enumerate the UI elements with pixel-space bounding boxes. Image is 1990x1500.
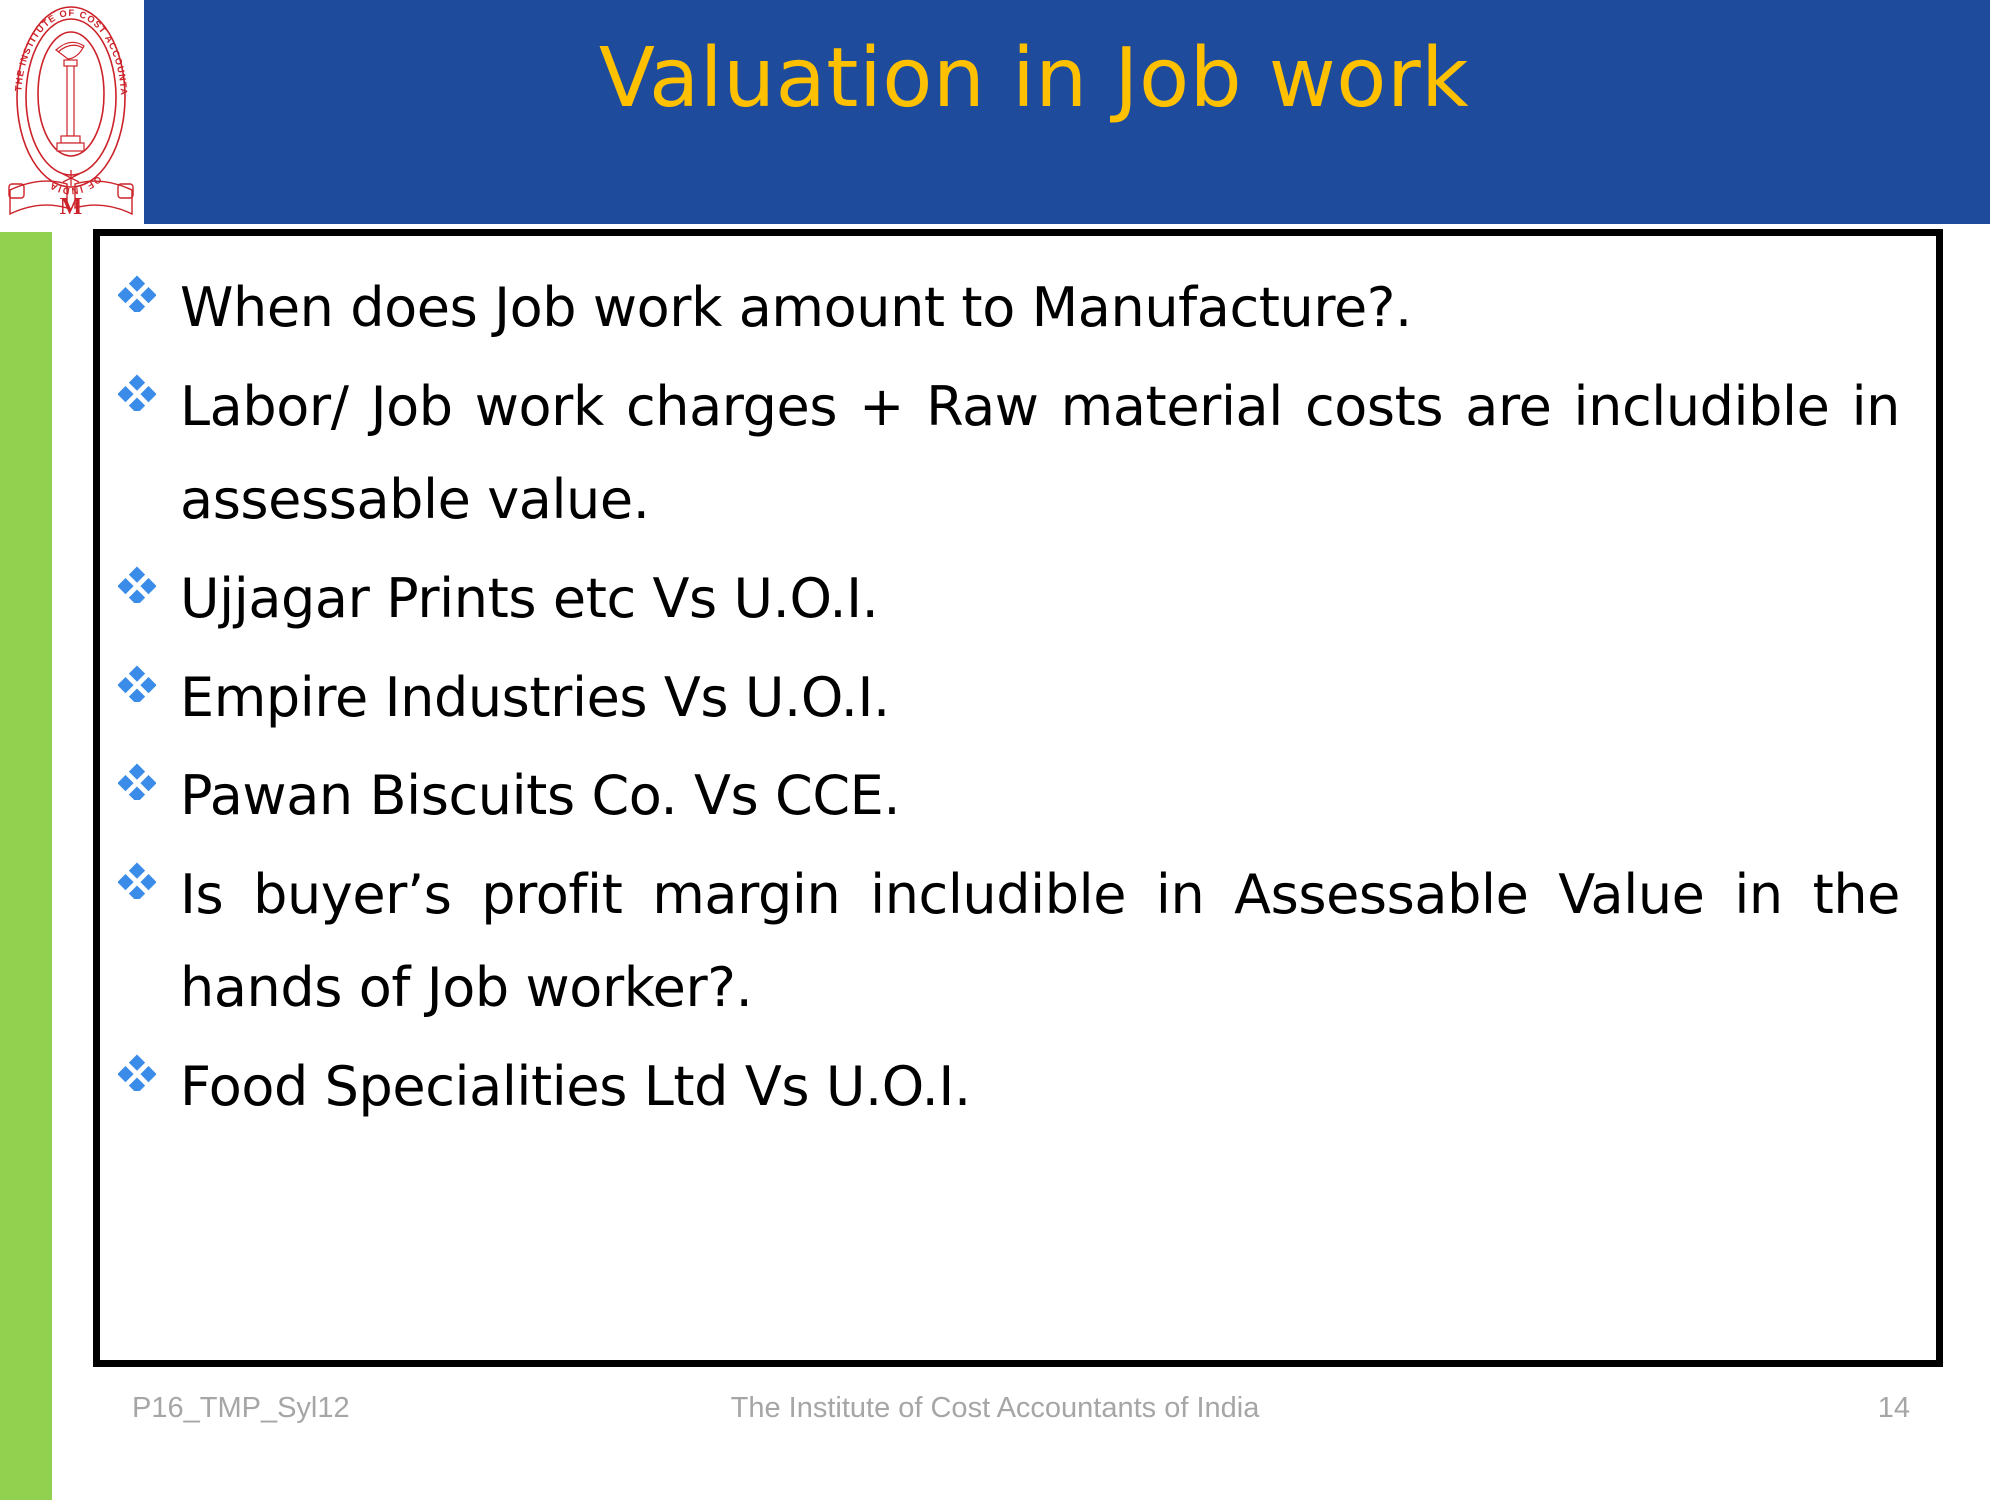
- list-item-label: Is buyer’s profit margin includible in A…: [180, 849, 1900, 1035]
- four-diamond-bullet-icon: [118, 652, 180, 702]
- four-diamond-bullet-icon: [118, 1041, 180, 1091]
- list-item-label: Labor/ Job work charges + Raw material c…: [180, 361, 1900, 547]
- slide-footer: P16_TMP_Syl12 The Institute of Cost Acco…: [0, 1392, 1990, 1452]
- list-item: Is buyer’s profit margin includible in A…: [118, 849, 1900, 1035]
- list-item: Pawan Biscuits Co. Vs CCE.: [118, 750, 1900, 843]
- list-item: Food Specialities Ltd Vs U.O.I.: [118, 1041, 1900, 1134]
- list-item: Empire Industries Vs U.O.I.: [118, 652, 1900, 745]
- list-item: Labor/ Job work charges + Raw material c…: [118, 361, 1900, 547]
- list-item-label: When does Job work amount to Manufacture…: [180, 262, 1900, 355]
- list-item: Ujjagar Prints etc Vs U.O.I.: [118, 553, 1900, 646]
- slide-page-number: 14: [1878, 1392, 1910, 1425]
- list-item-label: Ujjagar Prints etc Vs U.O.I.: [180, 553, 1900, 646]
- four-diamond-bullet-icon: [118, 849, 180, 899]
- list-item-label: Empire Industries Vs U.O.I.: [180, 652, 1900, 745]
- four-diamond-bullet-icon: [118, 361, 180, 411]
- four-diamond-bullet-icon: [118, 553, 180, 603]
- content-box: When does Job work amount to Manufacture…: [93, 229, 1943, 1367]
- footer-organisation: The Institute of Cost Accountants of Ind…: [0, 1392, 1990, 1425]
- left-green-accent-bar: [0, 232, 52, 1500]
- svg-text:M: M: [60, 194, 83, 220]
- slide-canvas: Valuation in Job work THE INSTITUTE OF C…: [0, 0, 1990, 1500]
- list-item-label: Pawan Biscuits Co. Vs CCE.: [180, 750, 1900, 843]
- page-title: Valuation in Job work: [144, 38, 1924, 120]
- list-item: When does Job work amount to Manufacture…: [118, 262, 1900, 355]
- four-diamond-bullet-icon: [118, 750, 180, 800]
- list-item-label: Food Specialities Ltd Vs U.O.I.: [180, 1041, 1900, 1134]
- institute-logo: THE INSTITUTE OF COST ACCOUNTANTS OF IND…: [6, 2, 136, 220]
- four-diamond-bullet-icon: [118, 262, 180, 312]
- bullet-list: When does Job work amount to Manufacture…: [118, 262, 1900, 1134]
